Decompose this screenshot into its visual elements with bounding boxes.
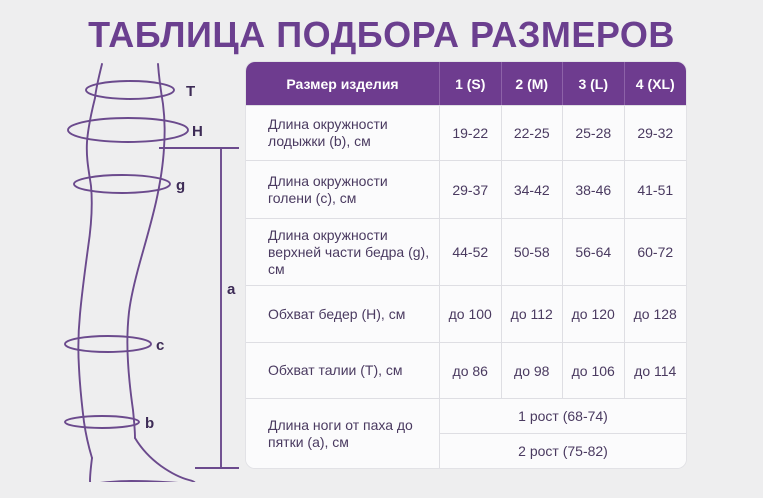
label-leg-length-a: a <box>227 281 236 298</box>
cell-waist-l: до 106 <box>563 342 625 398</box>
hips-ellipse <box>68 118 188 142</box>
cell-hip-l: до 120 <box>563 285 625 342</box>
header-product-size: Размер изделия <box>246 62 440 105</box>
page-title: ТАБЛИЦА ПОДБОРА РАЗМЕРОВ <box>0 14 763 56</box>
row-label-leg-length: Длина ноги от паха до пятки (a), см <box>246 398 440 468</box>
cell-thigh-s: 44-52 <box>440 218 502 285</box>
table-header: Размер изделия 1 (S) 2 (M) 3 (L) 4 (XL) <box>246 62 686 105</box>
header-size-4: 4 (XL) <box>625 62 687 105</box>
table-row: Обхват бедер (H), см до 100 до 112 до 12… <box>246 285 686 342</box>
cell-calf-xl: 41-51 <box>625 160 687 218</box>
cell-waist-s: до 86 <box>440 342 502 398</box>
size-chart-page: ТАБЛИЦА ПОДБОРА РАЗМЕРОВ <box>0 0 763 498</box>
header-size-2: 2 (M) <box>502 62 564 105</box>
table-row: Длина окружности лодыжки (b), см 19-22 2… <box>246 105 686 160</box>
row-label-upper-thigh-circumference: Длина окружности верхней части бедра (g)… <box>246 218 440 285</box>
cell-thigh-xl: 60-72 <box>625 218 687 285</box>
label-calf-c: c <box>156 337 164 354</box>
cell-height-option-2: 2 рост (75-82) <box>440 433 686 468</box>
table-header-row: Размер изделия 1 (S) 2 (M) 3 (L) 4 (XL) <box>246 62 686 105</box>
leg-measurement-diagram: T H g c b a <box>55 62 245 482</box>
label-upper-thigh-g: g <box>176 177 185 194</box>
cell-ankle-l: 25-28 <box>563 105 625 160</box>
cell-height-option-1: 1 рост (68-74) <box>440 398 686 433</box>
label-hips-H: H <box>192 123 203 140</box>
table-row: Длина окружности верхней части бедра (g)… <box>246 218 686 285</box>
row-label-waist-girth: Обхват талии (T), см <box>246 342 440 398</box>
label-waist-T: T <box>186 83 195 100</box>
cell-hip-xl: до 128 <box>625 285 687 342</box>
cell-calf-m: 34-42 <box>502 160 564 218</box>
table-row: Длина ноги от паха до пятки (a), см 1 ро… <box>246 398 686 433</box>
leg-diagram-svg: T H g c b a <box>55 62 245 482</box>
cell-thigh-l: 56-64 <box>563 218 625 285</box>
label-ankle-b: b <box>145 415 154 432</box>
header-size-1: 1 (S) <box>440 62 502 105</box>
table-body: Длина окружности лодыжки (b), см 19-22 2… <box>246 105 686 468</box>
cell-hip-m: до 112 <box>502 285 564 342</box>
cell-ankle-xl: 29-32 <box>625 105 687 160</box>
cell-waist-m: до 98 <box>502 342 564 398</box>
upper-thigh-ellipse <box>74 175 170 193</box>
measurement-ellipses <box>65 81 188 428</box>
leg-length-dimension <box>159 148 239 468</box>
cell-calf-s: 29-37 <box>440 160 502 218</box>
cell-calf-l: 38-46 <box>563 160 625 218</box>
table-row: Обхват талии (T), см до 86 до 98 до 106 … <box>246 342 686 398</box>
table-row: Длина окружности голени (c), см 29-37 34… <box>246 160 686 218</box>
size-table: Размер изделия 1 (S) 2 (M) 3 (L) 4 (XL) … <box>246 62 686 468</box>
cell-hip-s: до 100 <box>440 285 502 342</box>
row-label-ankle-circumference: Длина окружности лодыжки (b), см <box>246 105 440 160</box>
cell-ankle-m: 22-25 <box>502 105 564 160</box>
cell-waist-xl: до 114 <box>625 342 687 398</box>
cell-ankle-s: 19-22 <box>440 105 502 160</box>
cell-thigh-m: 50-58 <box>502 218 564 285</box>
header-size-3: 3 (L) <box>563 62 625 105</box>
ankle-ellipse <box>65 416 139 428</box>
row-label-hip-girth: Обхват бедер (H), см <box>246 285 440 342</box>
row-label-calf-circumference: Длина окружности голени (c), см <box>246 160 440 218</box>
